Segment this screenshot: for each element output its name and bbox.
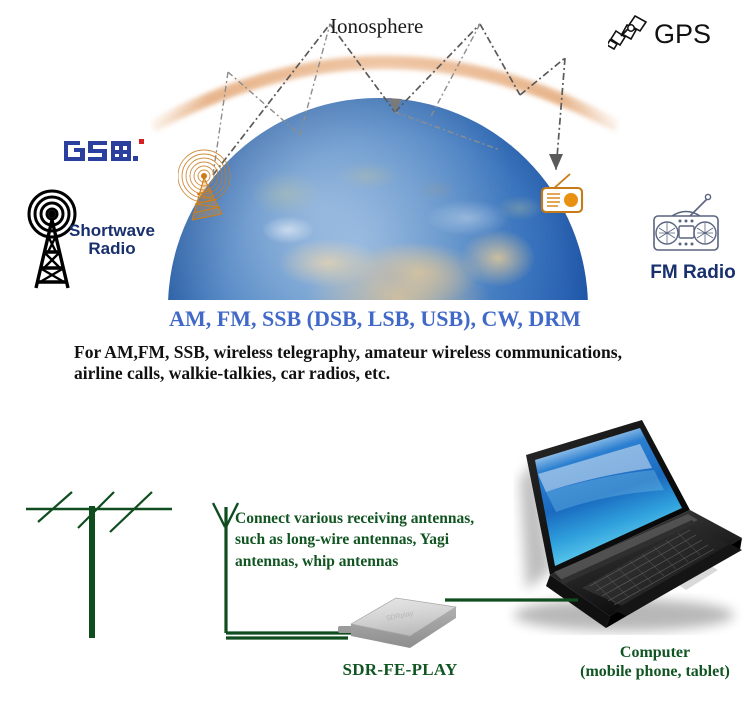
shortwave-label-line2: Radio — [88, 239, 135, 258]
satellite-icon — [608, 12, 652, 56]
connect-antennas-text: Connect various receiving antennas, such… — [235, 508, 535, 572]
modulation-modes-heading: AM, FM, SSB (DSB, LSB, USB), CW, DRM — [0, 306, 750, 332]
description-text: For AM,FM, SSB, wireless telegraphy, ama… — [74, 342, 694, 385]
connect-line2: such as long-wire antennas, Yagi — [235, 531, 449, 548]
shortwave-radio-label: Shortwave Radio — [66, 222, 158, 258]
computer-label-line1: Computer — [620, 644, 690, 661]
diagram-canvas: Ionosphere GPS — [0, 0, 750, 710]
sdr-device-label: SDR-FE-PLAY — [300, 660, 500, 680]
gps-group: GPS — [608, 12, 711, 56]
fm-radio-label: FM Radio — [638, 262, 748, 284]
description-line2: airline calls, walkie-talkies, car radio… — [74, 363, 390, 383]
yagi-antenna-icon — [14, 470, 194, 660]
top-propagation-scene: Ionosphere GPS — [0, 0, 750, 300]
description-line1: For AM,FM, SSB, wireless telegraphy, ama… — [74, 342, 622, 362]
sdr-dongle-icon: SDRplay — [338, 592, 464, 654]
shortwave-label-line1: Shortwave — [69, 221, 155, 240]
gsm-logo — [62, 138, 148, 164]
computer-label: Computer (mobile phone, tablet) — [560, 643, 750, 681]
connect-line3: antennas, whip antennas — [235, 553, 398, 570]
portable-radio-icon — [540, 172, 588, 218]
connect-line1: Connect various receiving antennas, — [235, 510, 474, 527]
laptop-computer-icon — [494, 420, 750, 635]
ionosphere-label: Ionosphere — [330, 14, 423, 39]
gps-label: GPS — [654, 19, 711, 50]
boombox-radio-icon — [650, 192, 722, 258]
transmitting-tower-icon — [178, 142, 250, 232]
computer-label-line2: (mobile phone, tablet) — [580, 663, 730, 680]
